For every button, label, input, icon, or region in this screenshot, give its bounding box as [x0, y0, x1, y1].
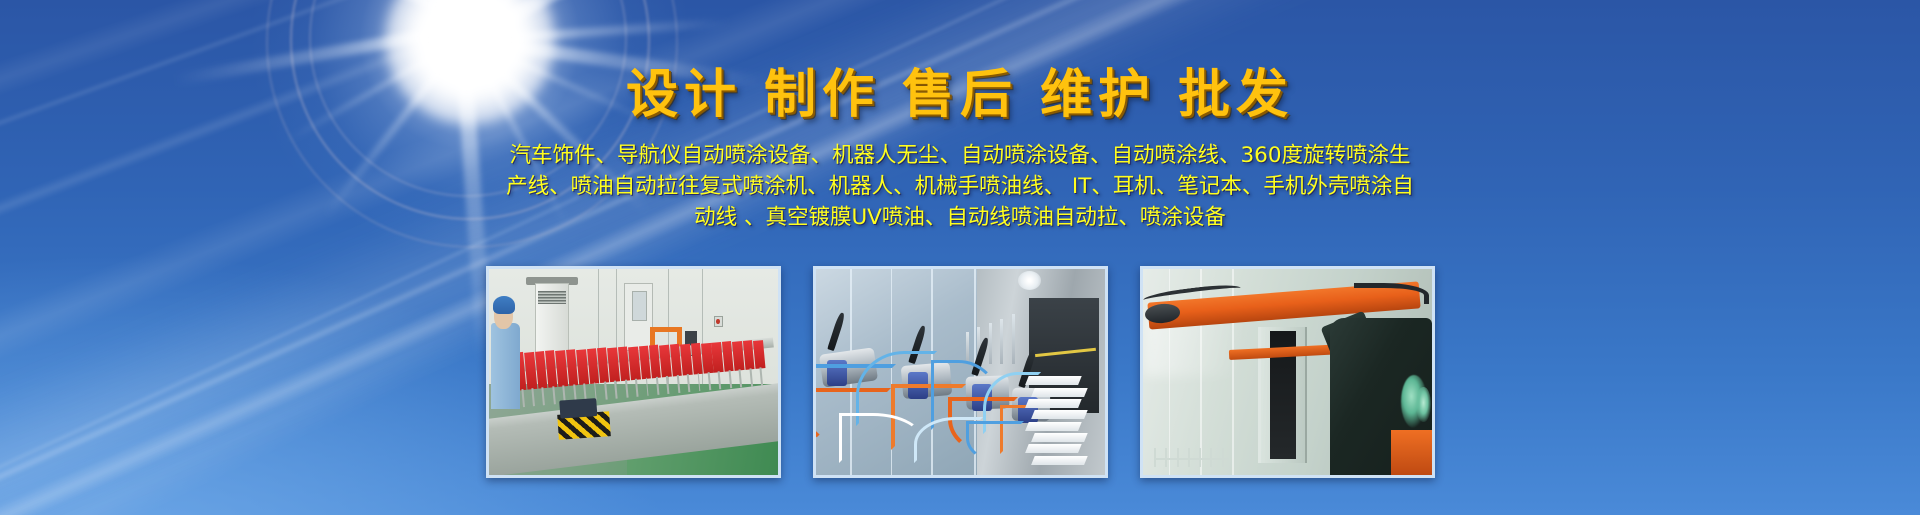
fixture-posts — [966, 310, 1030, 364]
fixture-post — [966, 332, 969, 364]
workpiece-hooks — [1154, 448, 1229, 467]
ceiling-lamp — [1018, 271, 1041, 290]
white-workpiece — [1025, 444, 1081, 453]
white-workpiece — [1031, 410, 1087, 419]
white-workpieces — [1027, 376, 1102, 471]
description-line-3: 动线 、真空镀膜UV喷油、自动线喷油自动拉、喷涂设备 — [430, 202, 1490, 233]
product-photo-row — [0, 266, 1920, 478]
white-workpiece — [1025, 376, 1081, 385]
headline-word: 设计 — [626, 52, 742, 127]
workpiece-hook — [1177, 448, 1179, 467]
photo-robot-spray-booth-arm[interactable] — [1140, 266, 1435, 478]
tooling-cart — [557, 411, 611, 439]
white-workpiece — [1025, 422, 1081, 431]
robot-orange-base — [1391, 430, 1431, 475]
worker-coverall — [491, 323, 520, 410]
white-workpiece — [1025, 399, 1081, 408]
worker-cap — [493, 296, 515, 315]
banner-description: 汽车饰件、导航仪自动喷涂设备、机器人无尘、自动喷涂设备、自动喷涂线、360度旋转… — [430, 140, 1490, 233]
emergency-stop-button — [714, 316, 723, 326]
headline-word: 制作 — [764, 52, 880, 127]
workpiece-hook — [1165, 448, 1167, 467]
promo-banner: 设计制作售后维护批发 汽车饰件、导航仪自动喷涂设备、机器人无尘、自动喷涂设备、自… — [0, 0, 1920, 515]
description-line-2: 产线、喷油自动拉往复式喷涂机、机器人、机械手喷油线、 IT、耳机、笔记本、手机外… — [430, 171, 1490, 202]
white-workpiece — [1031, 456, 1087, 465]
fixture-post — [1000, 319, 1003, 364]
banner-content: 设计制作售后维护批发 汽车饰件、导航仪自动喷涂设备、机器人无尘、自动喷涂设备、自… — [0, 0, 1920, 515]
banner-headline: 设计制作售后维护批发 — [0, 52, 1920, 127]
headline-word: 维护 — [1040, 52, 1156, 127]
photo-cleanroom-coating-production-line[interactable] — [486, 266, 781, 478]
headline-word: 售后 — [902, 52, 1018, 127]
workpiece-hook — [1188, 448, 1190, 467]
fixture-post — [1012, 314, 1015, 363]
white-workpiece — [1031, 433, 1087, 442]
white-workpiece — [1031, 388, 1087, 397]
headline-word: 批发 — [1178, 52, 1294, 127]
workpiece-hook — [1210, 448, 1212, 467]
robot-highlight — [1416, 387, 1430, 421]
workpiece-hook — [1199, 448, 1201, 467]
workpiece-hook — [1154, 448, 1156, 467]
workpiece-hook — [1222, 448, 1224, 467]
fixture-post — [989, 323, 992, 364]
robot-cable — [1354, 283, 1429, 304]
red-fixture — [753, 340, 765, 370]
photo-automatic-spray-guns-manifold[interactable] — [813, 266, 1108, 478]
description-line-1: 汽车饰件、导航仪自动喷涂设备、机器人无尘、自动喷涂设备、自动喷涂线、360度旋转… — [430, 140, 1490, 171]
